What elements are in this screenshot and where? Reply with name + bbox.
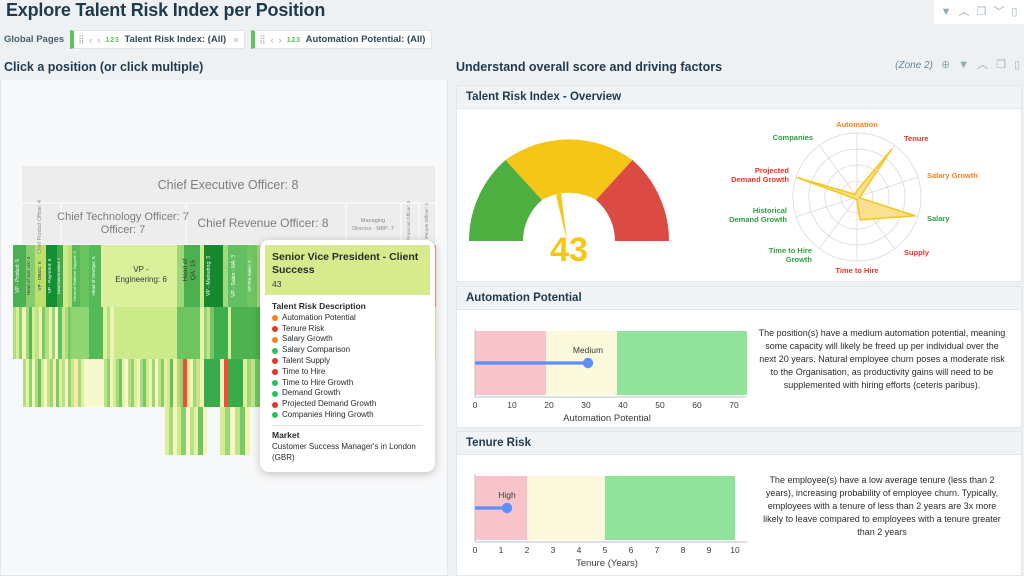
tooltip-factor-row: Talent Supply — [272, 356, 423, 367]
factor-status-dot — [272, 326, 278, 332]
factor-status-dot — [272, 358, 278, 364]
tooltip-title: Senior Vice President - Client Success — [272, 251, 423, 277]
close-icon[interactable]: × — [233, 35, 238, 45]
treemap-leaf-label: VP - Sales - NA: 3 — [231, 255, 237, 297]
treemap-root-label: Chief Executive Officer: 8 — [158, 178, 299, 192]
tenure-x-ticks: 0 1 2 3 4 5 6 7 8 9 10 — [473, 545, 740, 555]
treemap-leaf-label: VP - Marketing: 3 — [206, 256, 212, 296]
numeric-type-icon: 123 — [287, 35, 301, 44]
tooltip-factor-row: Time to Hire — [272, 367, 423, 378]
layers-icon[interactable]: ❒ — [996, 60, 1006, 71]
tenure-bullet-chart: High 0 1 2 3 4 5 6 7 8 9 10 Tenure (Year… — [457, 456, 747, 576]
chevron-right-icon[interactable]: › — [97, 35, 100, 45]
factor-label: Tenure Risk — [282, 324, 324, 335]
svg-text:10: 10 — [730, 545, 740, 555]
filter-pill-talent-risk-index[interactable]: ⣿ ‹ › 123 Talent Risk Index: (All) × — [70, 30, 245, 49]
treemap-leaf-label-vp-eng: VP - — [133, 265, 149, 274]
treemap-group-label-cto-line2: Officer: 7 — [101, 224, 145, 236]
automation-marker-label: Medium — [573, 345, 603, 355]
dashboard-root: Explore Talent Risk Index per Position ▼… — [0, 0, 1024, 576]
svg-text:2: 2 — [525, 545, 530, 555]
chevron-up-icon[interactable]: ︿ — [977, 60, 988, 71]
tenure-marker-label: High — [498, 490, 516, 500]
treemap-leaf-label: Head of SW: UX: 4 — [26, 256, 31, 295]
svg-text:6: 6 — [629, 545, 634, 555]
treemap-leaf-label: Head of Platform Support: 5 — [72, 250, 77, 300]
global-pages-label: Global Pages — [0, 34, 64, 45]
svg-text:8: 8 — [681, 545, 686, 555]
tooltip-factor-list: Automation PotentialTenure RiskSalary Gr… — [272, 313, 423, 421]
global-filter-bar: Global Pages ⣿ ‹ › 123 Talent Risk Index… — [0, 30, 432, 49]
factor-label: Projected Demand Growth — [282, 399, 376, 410]
treemap-leaf-label: Head Data Architect: 4 — [57, 258, 61, 294]
automation-potential-card: Automation Potential Medium 0 10 20 30 4… — [456, 286, 1022, 428]
radar-label-companies: Companies — [773, 133, 813, 142]
radar-label-hist-demand-2: Demand Growth — [729, 215, 787, 224]
tenure-risk-card: Tenure Risk High 0 1 2 3 4 5 6 7 8 9 10 — [456, 431, 1022, 576]
gauge-value-label: 43 — [550, 231, 588, 269]
treemap-group-label-md-line2: Director - NBP: 7 — [352, 226, 394, 232]
radar-label-time-to-hire: Time to Hire — [835, 266, 878, 275]
radar-label-hist-demand: Historical — [753, 206, 787, 215]
factor-label: Talent Supply — [282, 356, 330, 367]
tenure-x-axis-title: Tenure (Years) — [576, 558, 638, 569]
filter-pill-label: Automation Potential: (All) — [306, 34, 426, 45]
factor-status-dot — [272, 348, 278, 354]
treemap-group-label-cro: Chief Revenue Officer: 8 — [197, 216, 329, 230]
chevron-right-icon[interactable]: › — [279, 35, 282, 45]
radar-label-tth-growth: Time to Hire — [769, 246, 812, 255]
factor-status-dot — [272, 402, 278, 408]
filter-pill-automation-potential[interactable]: ⣿ ‹ › 123 Automation Potential: (All) — [251, 30, 432, 49]
factor-status-dot — [272, 380, 278, 386]
svg-text:30: 30 — [581, 400, 591, 410]
chevron-down-icon[interactable]: ﹀ — [993, 7, 1004, 18]
treemap-leaf-label-vp-eng-2: Engineering: 6 — [115, 275, 167, 284]
svg-text:40: 40 — [618, 400, 628, 410]
svg-text:3: 3 — [551, 545, 556, 555]
filter-icon[interactable]: ▼ — [941, 7, 952, 18]
header-toolbar: ▼ ︿ ❒ ﹀ ▯ — [934, 0, 1024, 24]
tooltip-factor-row: Companies Hiring Growth — [272, 410, 423, 421]
chevron-up-icon[interactable]: ︿ — [958, 7, 969, 18]
tooltip-factor-row: Automation Potential — [272, 313, 423, 324]
factor-label: Time to Hire — [282, 367, 325, 378]
svg-text:7: 7 — [655, 545, 660, 555]
tooltip-factor-row: Tenure Risk — [272, 324, 423, 335]
tooltip-header: Senior Vice President - Client Success 4… — [265, 245, 430, 295]
zone-tag: (Zone 2) — [895, 60, 933, 71]
tooltip-section-label: Talent Risk Description — [272, 301, 423, 311]
tenure-description: The employee(s) have a low average tenur… — [757, 474, 1007, 539]
svg-text:5: 5 — [603, 545, 608, 555]
svg-text:50: 50 — [655, 400, 665, 410]
tooltip-factor-row: Salary Growth — [272, 334, 423, 345]
talent-risk-gauge: 43 — [469, 139, 669, 269]
radar-label-supply: Supply — [904, 248, 930, 257]
svg-text:70: 70 — [729, 400, 739, 410]
treemap-leaf-label-qa-2: QA: 15 — [190, 259, 197, 280]
factor-status-dot — [272, 391, 278, 397]
tooltip-market-label: Market — [272, 430, 423, 440]
svg-text:0: 0 — [473, 545, 478, 555]
automation-description: The position(s) have a medium automation… — [757, 327, 1007, 392]
radar-label-tth-growth-2: Growth — [786, 255, 813, 264]
tooltip-factor-row: Projected Demand Growth — [272, 399, 423, 410]
chevron-left-icon[interactable]: ‹ — [89, 35, 92, 45]
factor-status-dot — [272, 337, 278, 343]
automation-bullet-chart: Medium 0 10 20 30 40 50 60 70 Automation… — [457, 311, 747, 429]
factor-label: Time to Hire Growth — [282, 378, 353, 389]
treemap-leaf-label: VP - DB&C: 6 — [37, 261, 43, 291]
treemap-leaf-label-qa: Head of — [182, 258, 189, 281]
treemap-leaf-label: VP - Product: 5 — [15, 259, 21, 293]
automation-card-title: Automation Potential — [457, 287, 1021, 310]
position-tooltip: Senior Vice President - Client Success 4… — [260, 240, 435, 472]
tooltip-divider — [272, 425, 423, 426]
factor-status-dot — [272, 412, 278, 418]
tooltip-market-value: Customer Success Manager's in London (GB… — [272, 442, 423, 464]
tooltip-factor-row: Time to Hire Growth — [272, 378, 423, 389]
drag-handle-icon[interactable]: ⣿ — [78, 34, 84, 45]
sidebar-icon[interactable]: ▯ — [1014, 60, 1020, 71]
svg-text:20: 20 — [544, 400, 554, 410]
automation-x-axis-title: Automation Potential — [563, 413, 651, 424]
page-title: Explore Talent Risk Index per Position — [6, 0, 325, 21]
numeric-type-icon: 123 — [105, 35, 119, 44]
radar-label-tenure: Tenure — [904, 134, 928, 143]
svg-text:10: 10 — [507, 400, 517, 410]
sidebar-icon[interactable]: ▯ — [1011, 7, 1017, 18]
tooltip-factor-row: Demand Growth — [272, 388, 423, 399]
radar-label-salary: Salary — [927, 214, 950, 223]
factor-label: Demand Growth — [282, 388, 340, 399]
automation-x-ticks: 0 10 20 30 40 50 60 70 — [473, 400, 739, 410]
zone2-toolbar: (Zone 2) ⊕ ▼ ︿ ❒ ▯ — [895, 60, 1020, 71]
factor-label: Salary Comparison — [282, 345, 350, 356]
radar-label-salary-growth: Salary Growth — [927, 171, 978, 180]
filter-pill-label: Talent Risk Index: (All) — [124, 34, 226, 45]
drag-handle-icon[interactable]: ⣿ — [259, 34, 265, 45]
filter-icon[interactable]: ▼ — [958, 60, 969, 71]
tooltip-score: 43 — [272, 279, 423, 290]
layers-icon[interactable]: ❒ — [976, 7, 986, 18]
factor-status-dot — [272, 369, 278, 375]
svg-text:4: 4 — [577, 545, 582, 555]
treemap-group-label-cpo: Chief Product Officer: 4 — [37, 200, 43, 254]
svg-text:0: 0 — [473, 400, 478, 410]
factor-label: Automation Potential — [282, 313, 356, 324]
svg-text:1: 1 — [499, 545, 504, 555]
tooltip-factor-row: Salary Comparison — [272, 345, 423, 356]
radar-label-proj-demand: Projected — [755, 166, 790, 175]
treemap-leaf-label: VP - Payment: 6 — [47, 258, 53, 293]
treemap-group-label-cto: Chief Technology Officer: 7 — [57, 211, 189, 223]
overview-card: Talent Risk Index - Overview 43 — [456, 85, 1022, 282]
treemap-leaf-label: Head of DevOps: 5 — [91, 256, 96, 296]
overview-card-title: Talent Risk Index - Overview — [457, 86, 1021, 109]
tooltip-body: Talent Risk Description Automation Poten… — [265, 295, 430, 468]
treemap-group-label-md: Managing — [361, 218, 385, 224]
chevron-left-icon[interactable]: ‹ — [271, 35, 274, 45]
factor-label: Salary Growth — [282, 334, 333, 345]
factor-status-dot — [272, 315, 278, 321]
svg-text:60: 60 — [692, 400, 702, 410]
left-zone-caption: Click a position (or click multiple) — [4, 60, 203, 74]
overview-charts-svg: 43 — [457, 109, 1021, 279]
treemap-leaf-label: VP Pre-Sales: 3 — [247, 260, 252, 292]
factor-label: Companies Hiring Growth — [282, 410, 374, 421]
talent-risk-radar: Automation Tenure Salary Growth Salary S… — [729, 120, 978, 275]
radar-label-automation: Automation — [836, 120, 878, 129]
radar-label-proj-demand-2: Demand Growth — [731, 175, 789, 184]
svg-text:9: 9 — [707, 545, 712, 555]
right-zone-caption: Understand overall score and driving fac… — [456, 60, 722, 74]
tenure-card-title: Tenure Risk — [457, 432, 1021, 455]
globe-icon[interactable]: ⊕ — [941, 60, 950, 71]
